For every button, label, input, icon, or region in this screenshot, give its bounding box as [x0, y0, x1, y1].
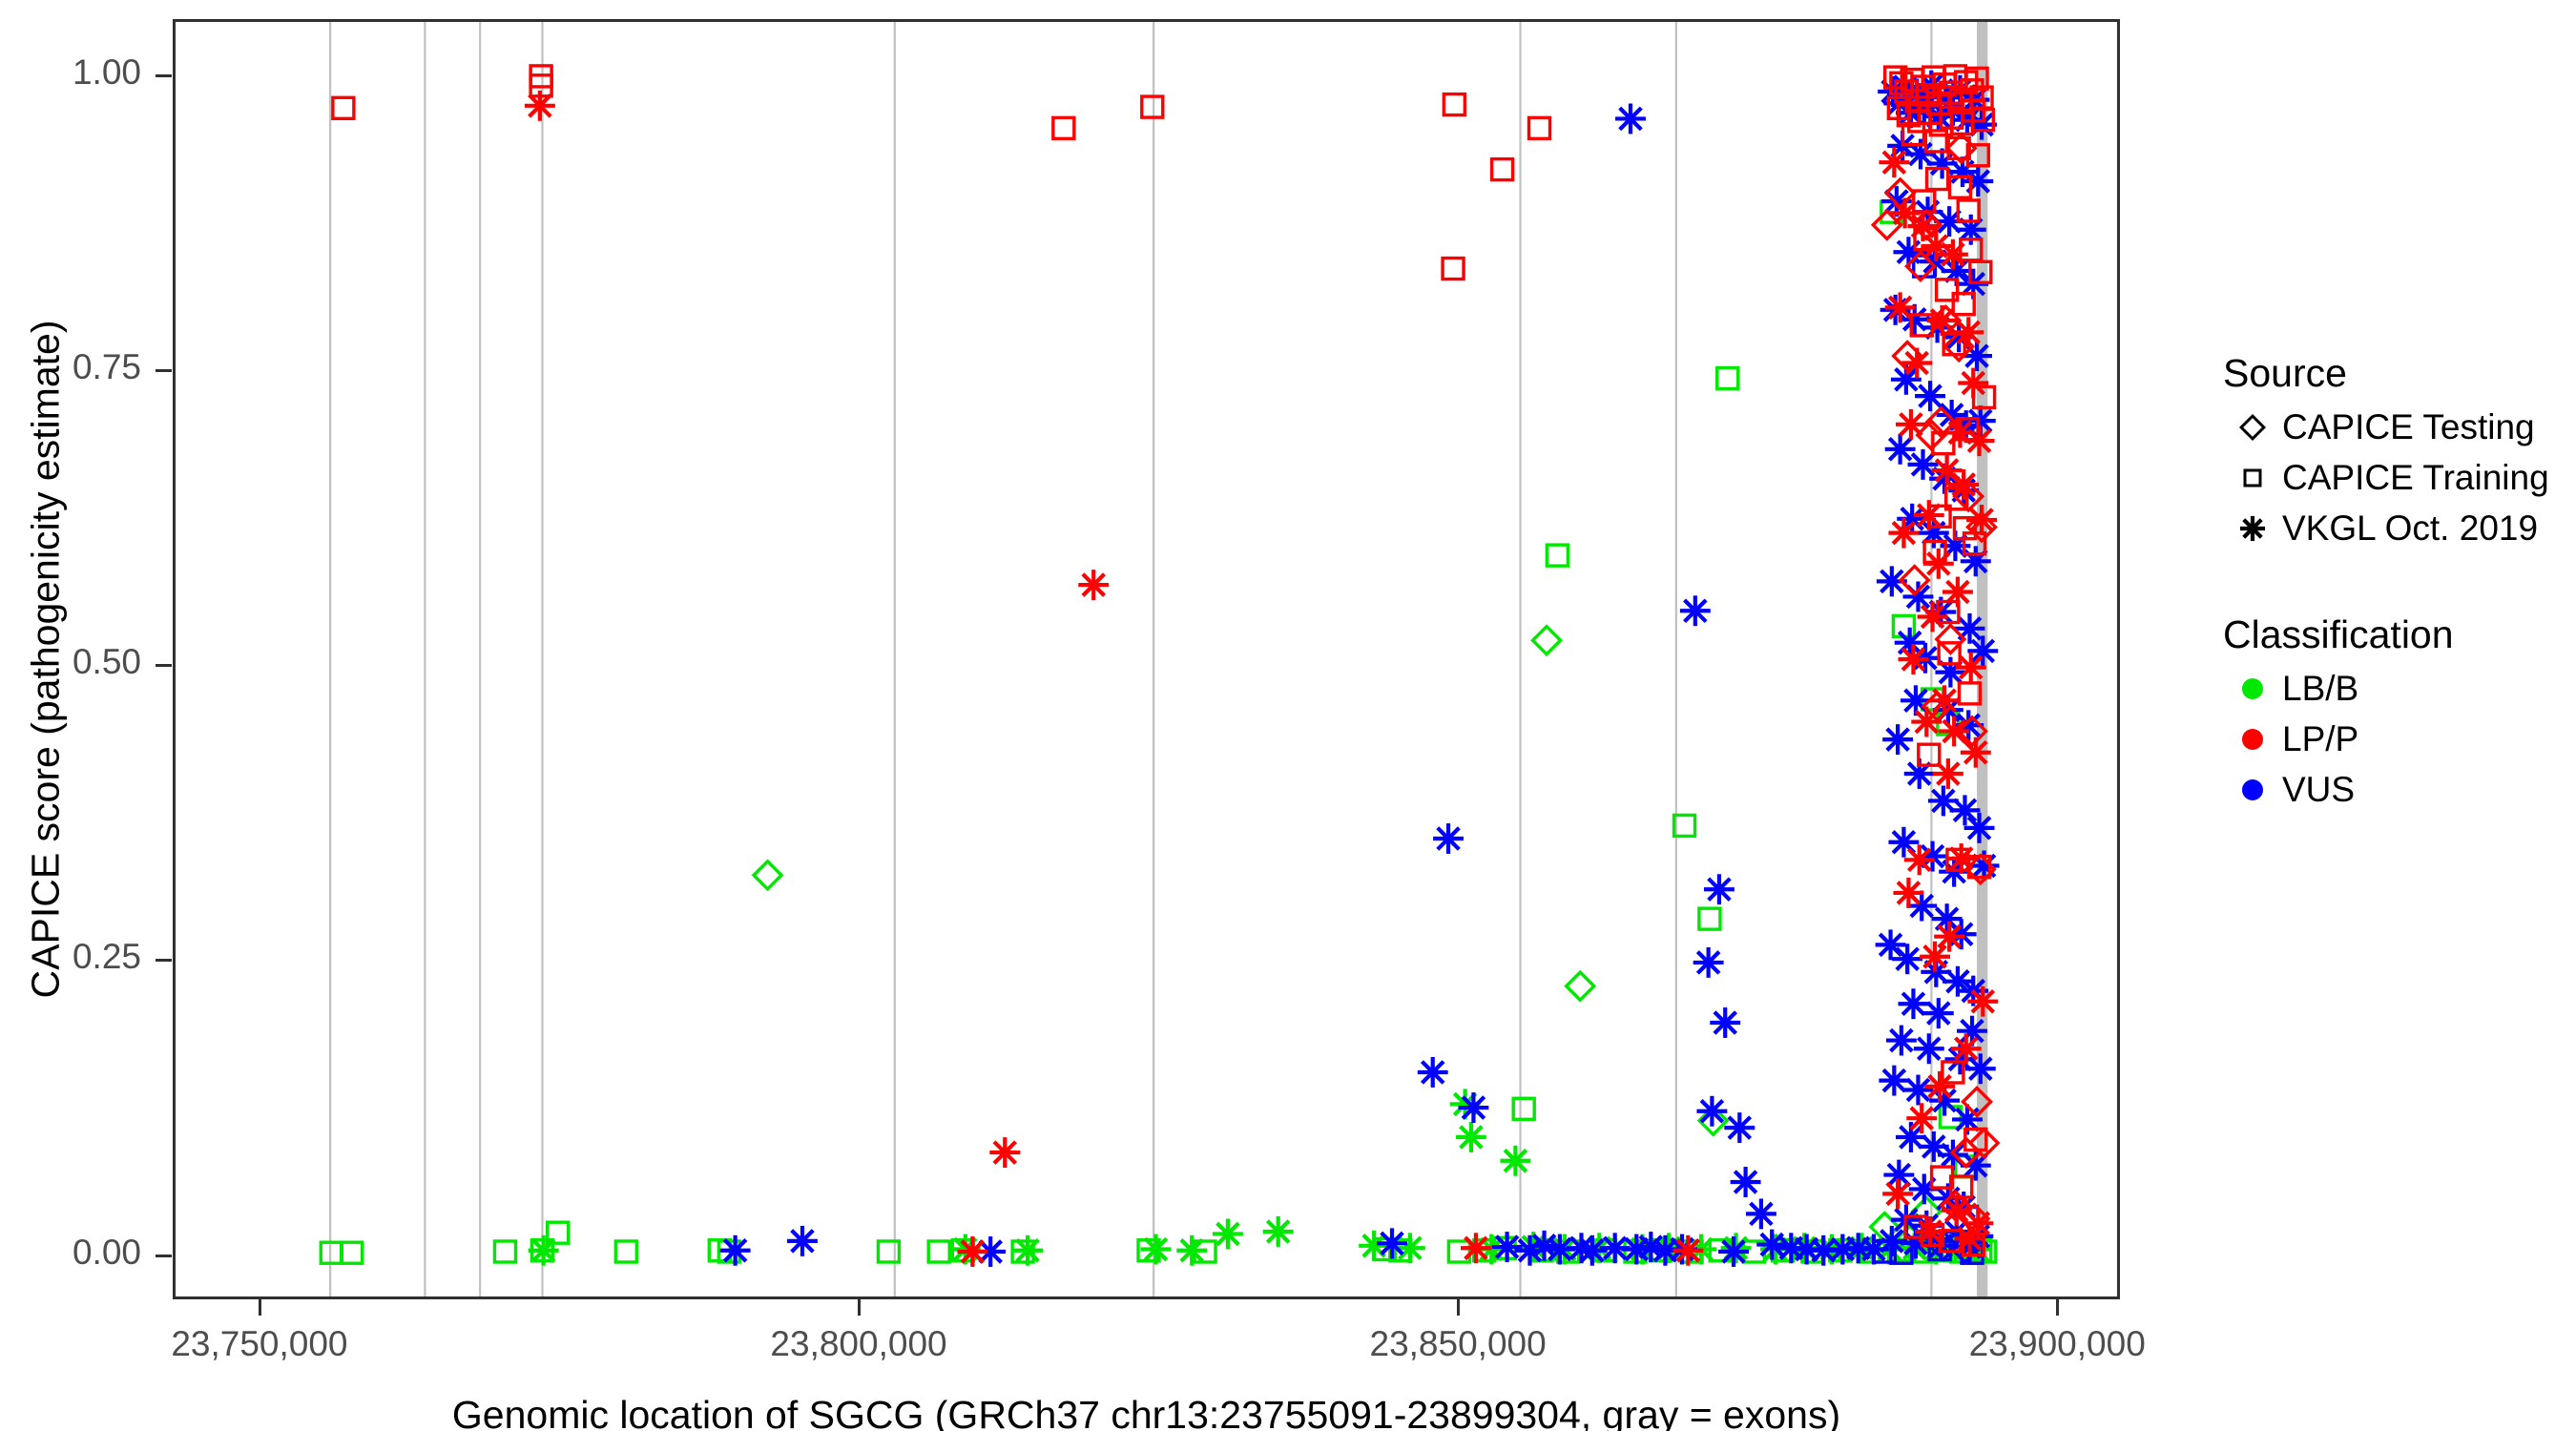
data-point [321, 1242, 342, 1263]
data-point [1967, 986, 1998, 1017]
exon-marker-line [541, 22, 543, 1296]
data-point [1953, 317, 1984, 347]
data-point [1859, 1234, 1889, 1265]
data-point [1879, 147, 1909, 177]
data-point [1710, 1007, 1740, 1038]
data-point [1443, 259, 1464, 280]
legend-item-source-1[interactable]: CAPICE Training [2223, 452, 2557, 503]
data-point [1918, 602, 1948, 633]
y-tick-mark [156, 664, 172, 667]
data-point [1903, 1075, 1934, 1106]
data-point [1965, 1053, 1996, 1084]
data-point [1529, 117, 1550, 138]
data-point [333, 97, 354, 118]
data-point [1718, 1236, 1749, 1267]
exon-marker-line [894, 22, 896, 1296]
data-point [1950, 795, 1981, 825]
data-point [1923, 998, 1954, 1028]
data-point [1924, 1071, 1955, 1102]
data-point [1492, 159, 1513, 180]
data-point [1886, 1026, 1917, 1056]
data-point [1696, 1096, 1727, 1127]
data-point [1923, 549, 1954, 579]
dot-icon [2232, 718, 2274, 760]
data-point [1964, 425, 1995, 456]
data-point [1934, 922, 1964, 952]
data-point [1461, 1233, 1491, 1263]
y-tick-label: 1.00 [0, 52, 141, 93]
data-point [1621, 1234, 1652, 1265]
square-icon [2232, 457, 2274, 499]
legend-group-source: CAPICE TestingCAPICE TrainingVKGL Oct. 2… [2223, 402, 2557, 553]
data-point [1053, 117, 1074, 138]
data-point [1731, 1167, 1761, 1197]
y-tick-mark [156, 959, 172, 962]
data-point [1433, 823, 1464, 854]
legend-label: CAPICE Testing [2282, 407, 2535, 447]
data-point [1515, 1235, 1546, 1266]
data-point [1545, 1234, 1575, 1265]
y-tick-label: 0.00 [0, 1233, 141, 1273]
data-point [1963, 166, 1993, 197]
data-point [1533, 627, 1561, 654]
data-point [989, 1137, 1020, 1168]
legend: Source CAPICE TestingCAPICE TrainingVKGL… [2223, 351, 2557, 815]
x-tick-label: 23,800,000 [770, 1324, 946, 1364]
data-point [1693, 947, 1724, 978]
x-tick-label: 23,900,000 [1969, 1324, 2146, 1364]
data-point [1680, 595, 1711, 626]
dot-icon [2223, 769, 2282, 811]
data-point [878, 1241, 899, 1262]
data-point [1942, 1195, 1972, 1226]
legend-label: VUS [2282, 770, 2355, 810]
data-point [928, 1241, 949, 1262]
legend-item-classification-1[interactable]: LP/P [2223, 714, 2557, 764]
data-point [1699, 908, 1720, 929]
data-point [1672, 1235, 1703, 1266]
asterisk-icon [2223, 508, 2282, 550]
data-point [1890, 197, 1921, 228]
legend-spacer [2223, 553, 2557, 612]
data-point [1958, 368, 1988, 399]
diamond-icon [2223, 406, 2282, 448]
data-point [1500, 1146, 1530, 1176]
data-point [1704, 874, 1735, 904]
data-point [720, 1235, 751, 1266]
data-point [1888, 518, 1919, 549]
data-point [1892, 944, 1922, 974]
dot-icon [2223, 668, 2282, 710]
square-icon [2223, 457, 2282, 499]
data-point [787, 1226, 818, 1256]
series-square-LB-B [321, 201, 1996, 1263]
x-tick-mark [1457, 1299, 1460, 1316]
data-point [1418, 1057, 1448, 1088]
data-point [1078, 570, 1109, 600]
data-point [754, 861, 781, 889]
y-tick-label: 0.75 [0, 347, 141, 387]
data-point [1955, 1223, 1985, 1254]
data-point [1938, 239, 1968, 270]
data-point [1513, 1098, 1534, 1119]
data-point [1141, 1234, 1172, 1265]
dot-icon [2223, 718, 2282, 760]
data-point [1012, 1235, 1043, 1266]
legend-item-source-0[interactable]: CAPICE Testing [2223, 402, 2557, 452]
data-point [1615, 103, 1646, 134]
data-point [529, 1235, 559, 1266]
series-asterisk-LP-P [525, 91, 1998, 1267]
exon-marker-line [424, 22, 426, 1296]
legend-item-classification-0[interactable]: LB/B [2223, 663, 2557, 714]
data-point [1724, 1112, 1755, 1143]
data-point [1893, 878, 1923, 908]
data-point [1911, 707, 1942, 737]
chart-figure: CAPICE score (pathogenicity estimate) 0.… [0, 0, 2576, 1431]
data-point [1885, 292, 1916, 322]
data-point [957, 1236, 987, 1267]
data-point [1964, 813, 1995, 843]
data-point [1547, 545, 1568, 566]
x-tick-label: 23,750,000 [171, 1324, 347, 1364]
y-tick-label: 0.50 [0, 642, 141, 682]
scatter-layer [176, 22, 2117, 1296]
dot-icon [2232, 769, 2274, 811]
data-point [615, 1241, 636, 1262]
data-point [1577, 1235, 1608, 1266]
x-tick-label: 23,850,000 [1370, 1324, 1547, 1364]
diamond-icon [2232, 406, 2274, 448]
exon-marker-line [1519, 22, 1521, 1296]
data-point [525, 91, 555, 121]
x-tick-mark [259, 1299, 261, 1316]
x-axis-label: Genomic location of SGCG (GRCh37 chr13:2… [452, 1393, 1840, 1431]
data-point [1896, 409, 1926, 440]
plot-panel [173, 19, 2120, 1299]
data-point [1908, 211, 1939, 241]
exon-marker-line [1153, 22, 1154, 1296]
data-point [1901, 348, 1932, 379]
data-point [1951, 1033, 1982, 1064]
legend-label: LP/P [2282, 719, 2358, 759]
data-point [1927, 169, 1948, 190]
data-point [1914, 1033, 1944, 1064]
dot-icon [2232, 668, 2274, 710]
exon-marker-line [479, 22, 481, 1296]
legend-label: LB/B [2282, 669, 2358, 709]
data-point [1948, 469, 1979, 500]
data-point [1956, 653, 1986, 683]
legend-title-classification: Classification [2223, 612, 2557, 657]
data-point [1717, 368, 1738, 389]
data-point [1899, 644, 1929, 674]
data-point [1176, 1235, 1207, 1266]
series-asterisk-VUS [720, 71, 2000, 1267]
x-tick-mark [2056, 1299, 2059, 1316]
data-point [1263, 1216, 1294, 1247]
data-point [1904, 844, 1935, 875]
exon-marker-line [1675, 22, 1677, 1296]
series-diamond-LB-B [754, 627, 1973, 1258]
data-point [1746, 1198, 1776, 1229]
data-point [1906, 1103, 1937, 1133]
data-point [1882, 1178, 1913, 1209]
data-point [1927, 305, 1958, 336]
data-point [1492, 1232, 1523, 1262]
legend-group-classification: LB/BLP/PVUS [2223, 663, 2557, 815]
data-point [342, 1242, 363, 1263]
data-point [1882, 724, 1913, 755]
legend-title-source: Source [2223, 351, 2557, 396]
data-point [1213, 1218, 1243, 1249]
asterisk-icon [2232, 508, 2274, 550]
data-point [1915, 1216, 1945, 1247]
legend-label: VKGL Oct. 2019 [2282, 508, 2538, 549]
legend-item-source-2[interactable]: VKGL Oct. 2019 [2223, 503, 2557, 553]
data-point [1961, 737, 1991, 768]
exon-marker-line [329, 22, 331, 1296]
data-point [1966, 505, 1997, 535]
data-point [1444, 94, 1465, 115]
data-point [1914, 500, 1944, 530]
data-point [1920, 942, 1950, 972]
data-point [1567, 972, 1594, 1000]
y-tick-mark [156, 74, 172, 77]
data-point [1933, 758, 1963, 789]
data-point [1142, 96, 1163, 117]
data-point [1456, 1122, 1486, 1152]
data-point [1946, 843, 1977, 874]
data-point [1962, 341, 1992, 371]
data-point [1377, 1228, 1407, 1258]
data-point [1942, 577, 1973, 608]
series-square-LP-P [333, 66, 1995, 1255]
y-tick-label: 0.25 [0, 937, 141, 977]
data-point [1458, 1092, 1488, 1123]
data-point [1929, 685, 1960, 715]
legend-label: CAPICE Training [2282, 458, 2549, 498]
y-tick-mark [156, 1255, 172, 1257]
data-point [494, 1241, 515, 1262]
x-tick-mark [858, 1299, 861, 1316]
legend-item-classification-2[interactable]: VUS [2223, 764, 2557, 815]
y-tick-mark [156, 369, 172, 372]
